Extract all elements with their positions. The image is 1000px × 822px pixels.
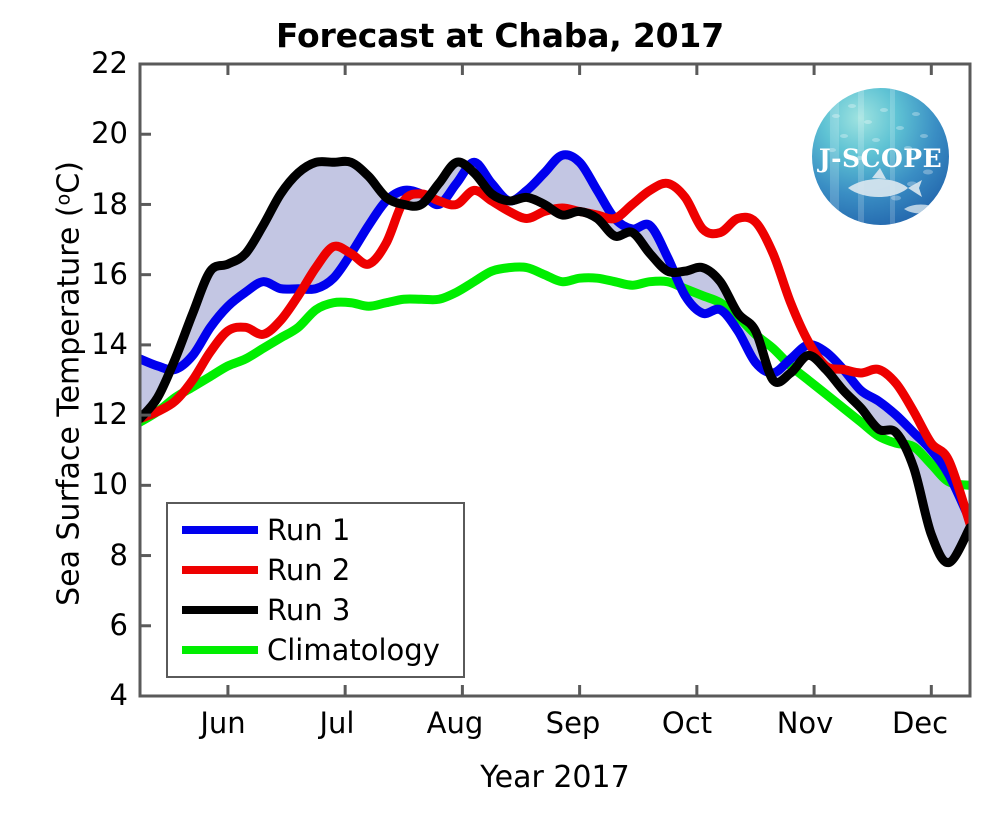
legend: Run 1 Run 2 Run 3 Climatology (166, 502, 465, 678)
legend-item-run-2[interactable]: Run 2 (168, 550, 463, 590)
jscope-logo: J-SCOPE (812, 88, 949, 225)
legend-item-climatology[interactable]: Climatology (168, 630, 463, 670)
legend-item-run-3[interactable]: Run 3 (168, 590, 463, 630)
legend-swatch-run-1 (182, 526, 258, 534)
jscope-logo-text: J-SCOPE (812, 144, 949, 173)
legend-label-climatology: Climatology (267, 636, 440, 665)
legend-item-run-1[interactable]: Run 1 (168, 510, 463, 550)
legend-label-run-3: Run 3 (267, 596, 350, 625)
legend-swatch-run-2 (182, 566, 258, 574)
legend-swatch-climatology (182, 646, 258, 654)
legend-label-run-1: Run 1 (267, 516, 350, 545)
legend-label-run-2: Run 2 (267, 556, 350, 585)
legend-swatch-run-3 (182, 606, 258, 614)
chart-figure: Forecast at Chaba, 2017 Sea Surface Temp… (0, 0, 1000, 822)
